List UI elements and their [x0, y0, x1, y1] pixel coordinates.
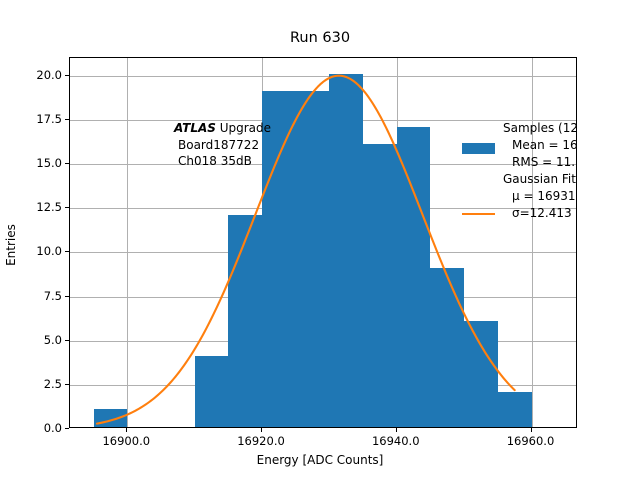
legend-fit-header: Gaussian Fit: [503, 171, 577, 188]
y-axis-label: Entries [4, 135, 18, 355]
y-axis-tick-label: 15.0 [36, 156, 62, 170]
x-axis-tick-label: 16960.0 [507, 434, 555, 448]
y-axis-tick-label: 2.5 [44, 377, 62, 391]
y-axis-tick-label: 20.0 [36, 68, 62, 82]
x-axis-tick-label: 16900.0 [102, 434, 150, 448]
y-axis-tick-mark [65, 119, 69, 120]
y-axis-tick-mark [65, 75, 69, 76]
legend-samples-rms: RMS = 11.363 [503, 154, 577, 171]
atlas-tag: ATLAS [174, 121, 216, 135]
y-axis-tick-mark [65, 207, 69, 208]
plot-area: ATLAS Upgrade Board187722 Ch018 35dB Sam… [69, 57, 577, 428]
x-axis-tick-label: 16920.0 [237, 434, 285, 448]
legend-fit-sigma: σ=12.413 [503, 205, 577, 222]
y-axis-tick-mark [65, 296, 69, 297]
y-axis-tick-label: 5.0 [44, 333, 62, 347]
y-axis-tick-label: 7.5 [44, 289, 62, 303]
y-axis-tick-mark [65, 340, 69, 341]
legend-samples-mean: Mean = 16931.853 [503, 137, 577, 154]
y-axis-tick-label: 17.5 [36, 112, 62, 126]
atlas-channel-label: Ch018 35dB [174, 153, 271, 170]
y-axis-tick-mark [65, 251, 69, 252]
legend-samples-header: Samples (121): [503, 120, 577, 137]
x-axis-tick-mark [261, 428, 262, 432]
x-axis-tick-label: 16940.0 [372, 434, 420, 448]
x-axis-label: Energy [ADC Counts] [0, 453, 640, 467]
y-axis-tick-mark [65, 163, 69, 164]
gaussian-fit-curve [70, 58, 576, 427]
x-axis-tick-mark [396, 428, 397, 432]
atlas-annotation: ATLAS Upgrade Board187722 Ch018 35dB [174, 120, 271, 170]
x-axis-tick-mark [126, 428, 127, 432]
atlas-label-line: ATLAS Upgrade [174, 120, 271, 137]
y-axis-tick-label: 0.0 [44, 421, 62, 435]
y-axis-tick-label: 10.0 [36, 244, 62, 258]
y-axis-tick-label: 12.5 [36, 200, 62, 214]
legend-swatch-samples [462, 143, 495, 154]
x-axis-tick-mark [531, 428, 532, 432]
atlas-upgrade-label: Upgrade [216, 121, 271, 135]
chart-figure: Run 630 0.02.55.07.510.012.515.017.520.0… [0, 0, 640, 480]
y-axis-tick-mark [65, 384, 69, 385]
legend-fit-mu: μ = 16931.414 [503, 188, 577, 205]
legend-swatch-gaussian-fit [462, 213, 495, 215]
chart-title: Run 630 [0, 30, 640, 46]
atlas-board-label: Board187722 [174, 137, 271, 154]
y-axis-tick-mark [65, 428, 69, 429]
legend-entries: Samples (121): Mean = 16931.853 RMS = 11… [503, 120, 577, 222]
